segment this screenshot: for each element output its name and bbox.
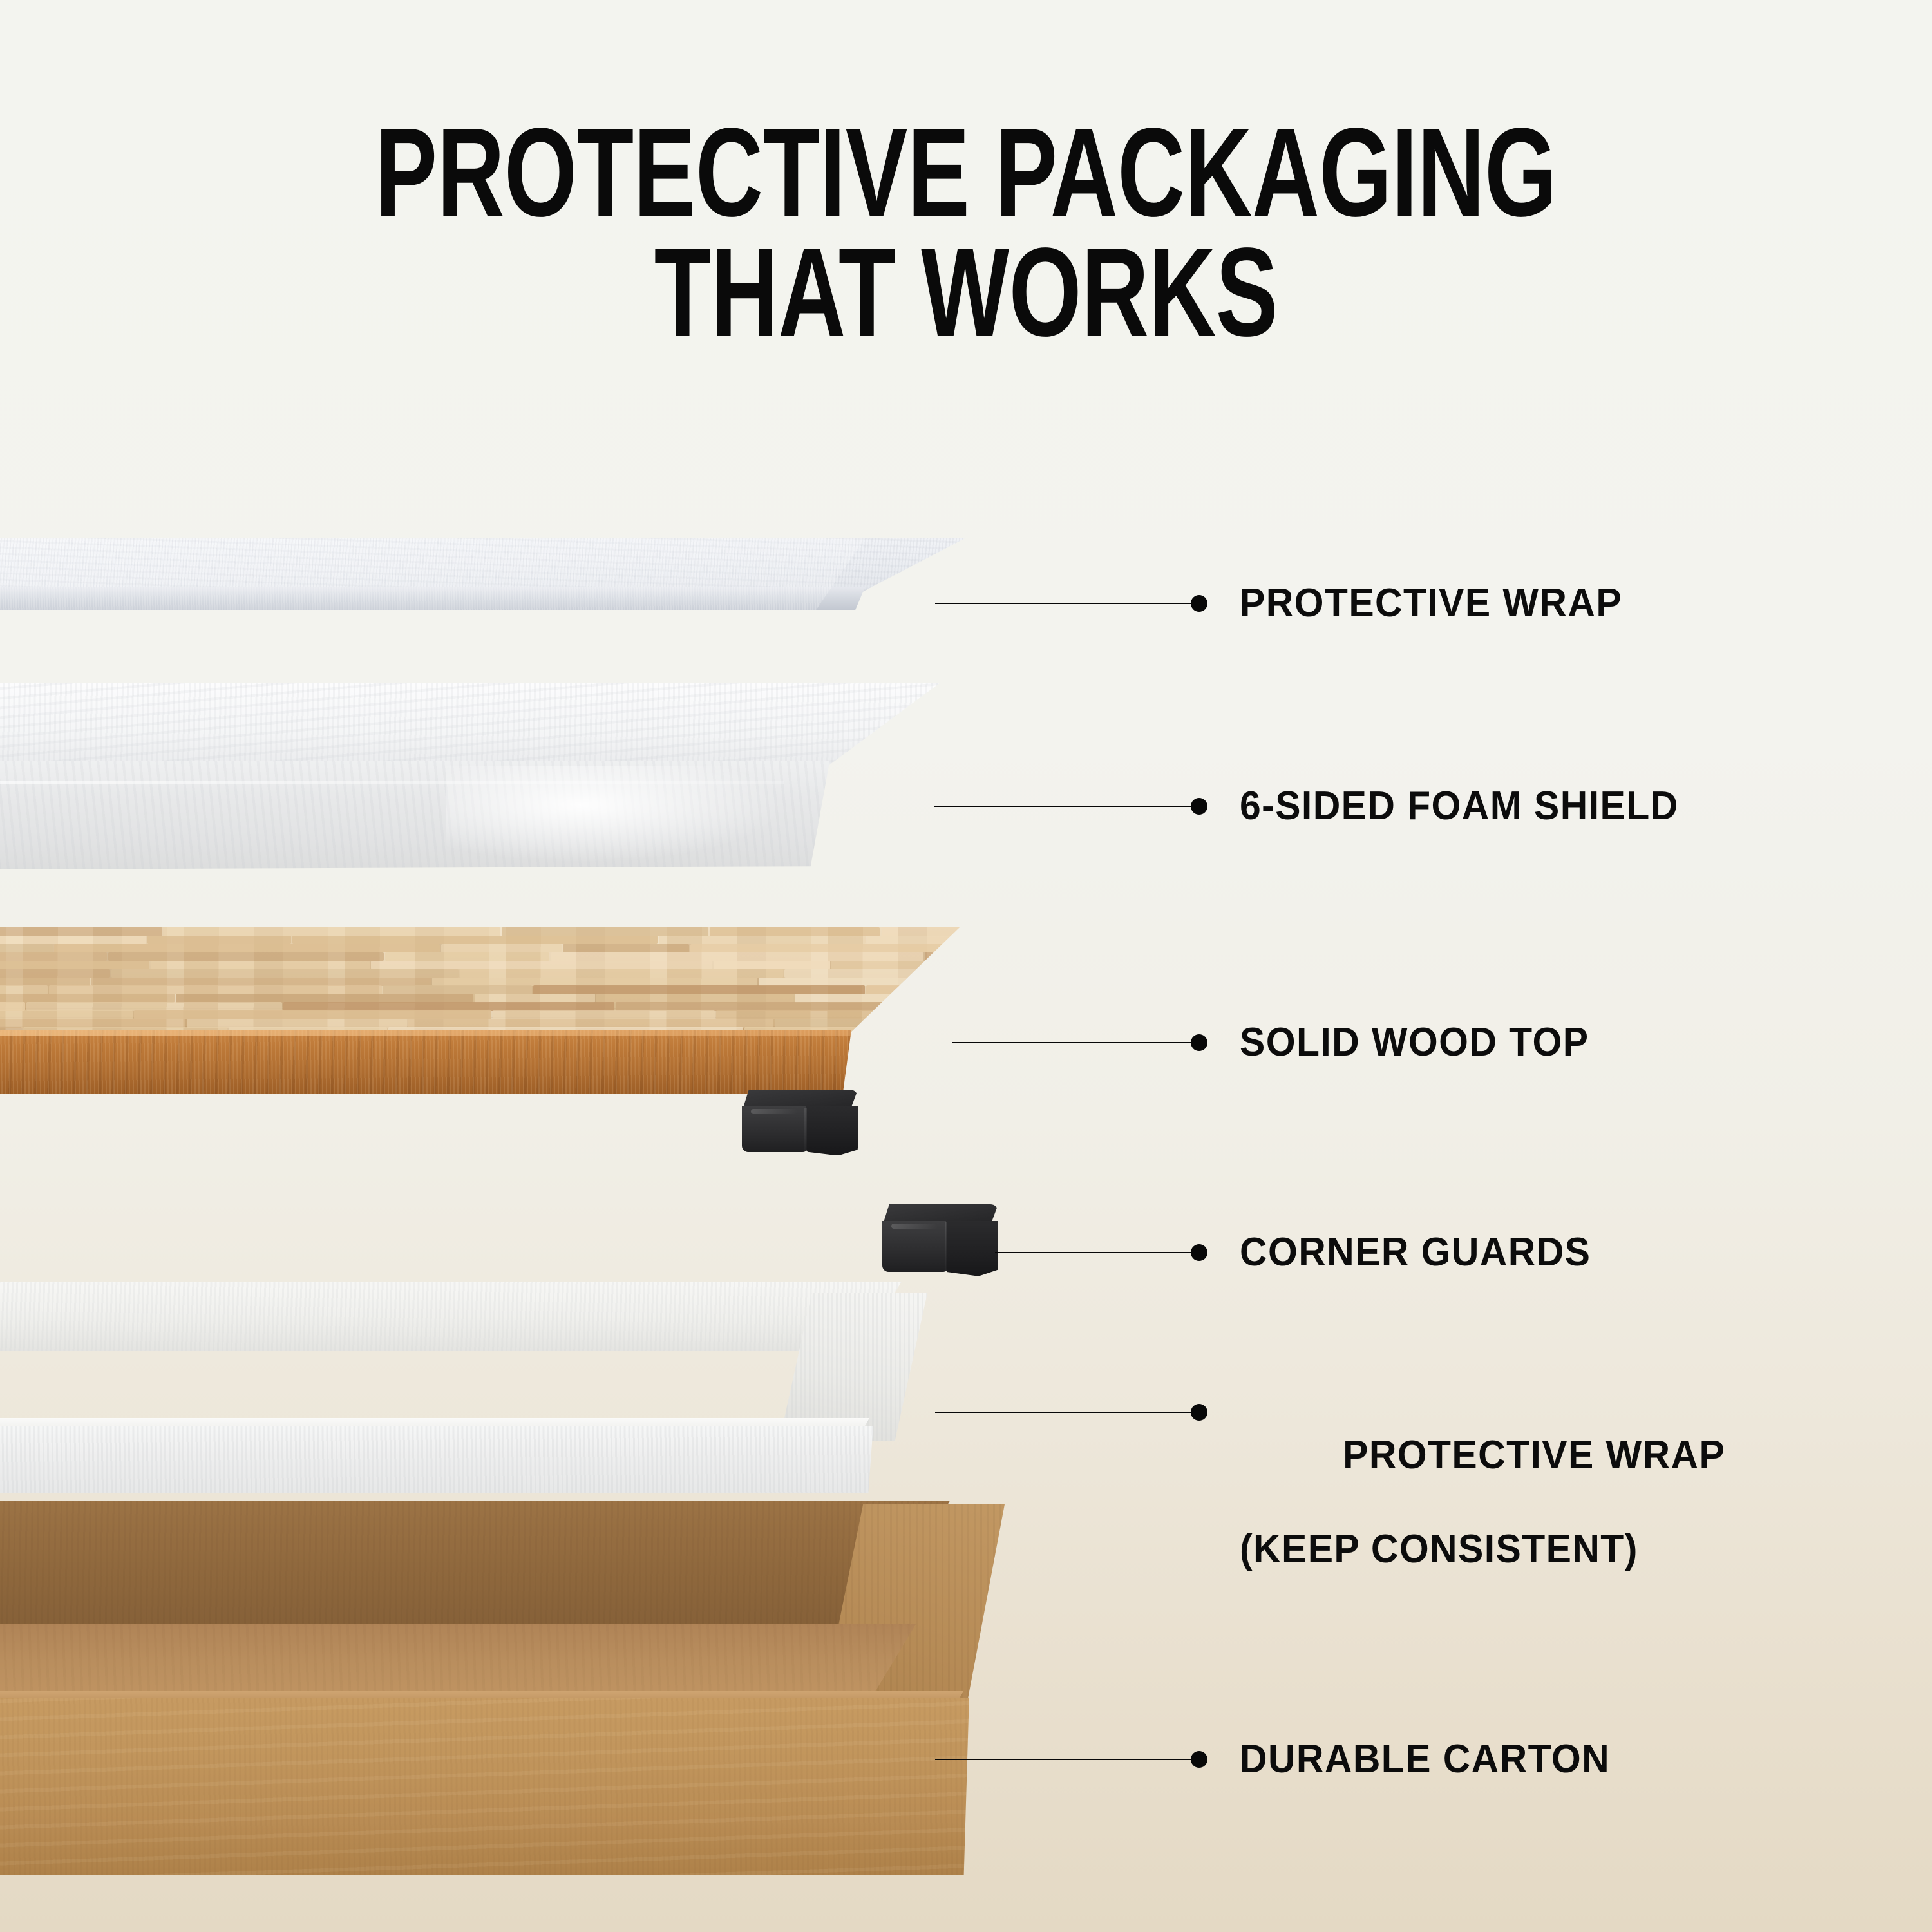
infographic-canvas: PROTECTIVE PACKAGING THAT WORKS — [0, 0, 1932, 1932]
leader-line — [935, 1759, 1193, 1760]
callout-label: PROTECTIVE WRAP — [1240, 580, 1622, 627]
callout-label: 6-SIDED FOAM SHIELD — [1240, 782, 1679, 829]
callout-label-multiline: PROTECTIVE WRAP (KEEP CONSISTENT) — [1240, 1385, 1725, 1667]
callout-group: PROTECTIVE WRAP 6-SIDED FOAM SHIELD SOLI… — [0, 0, 1932, 1932]
callout-protective-wrap-lower: PROTECTIVE WRAP (KEEP CONSISTENT) — [935, 1385, 1751, 1667]
leader-line — [935, 603, 1193, 604]
callout-label: CORNER GUARDS — [1240, 1229, 1591, 1276]
leader-line — [952, 1042, 1193, 1043]
callout-label-line-1: PROTECTIVE WRAP — [1331, 1433, 1725, 1477]
leader-dot-icon — [1191, 1404, 1207, 1421]
leader-line — [995, 1252, 1193, 1253]
leader-dot-icon — [1191, 595, 1207, 612]
leader-dot-icon — [1191, 1751, 1207, 1768]
callout-protective-wrap-top: PROTECTIVE WRAP — [935, 580, 1642, 627]
callout-solid-wood-top: SOLID WOOD TOP — [952, 1019, 1607, 1066]
callout-label: DURABLE CARTON — [1240, 1736, 1610, 1783]
callout-six-sided-foam-shield: 6-SIDED FOAM SHIELD — [934, 782, 1701, 829]
leader-dot-icon — [1191, 1244, 1207, 1261]
leader-line — [935, 1412, 1193, 1413]
leader-line — [934, 806, 1193, 807]
callout-label: SOLID WOOD TOP — [1240, 1019, 1589, 1066]
callout-label-line-2: (KEEP CONSISTENT) — [1240, 1526, 1725, 1573]
callout-corner-guards: CORNER GUARDS — [995, 1229, 1609, 1276]
callout-durable-carton: DURABLE CARTON — [935, 1736, 1629, 1783]
leader-dot-icon — [1191, 798, 1207, 815]
leader-dot-icon — [1191, 1034, 1207, 1051]
